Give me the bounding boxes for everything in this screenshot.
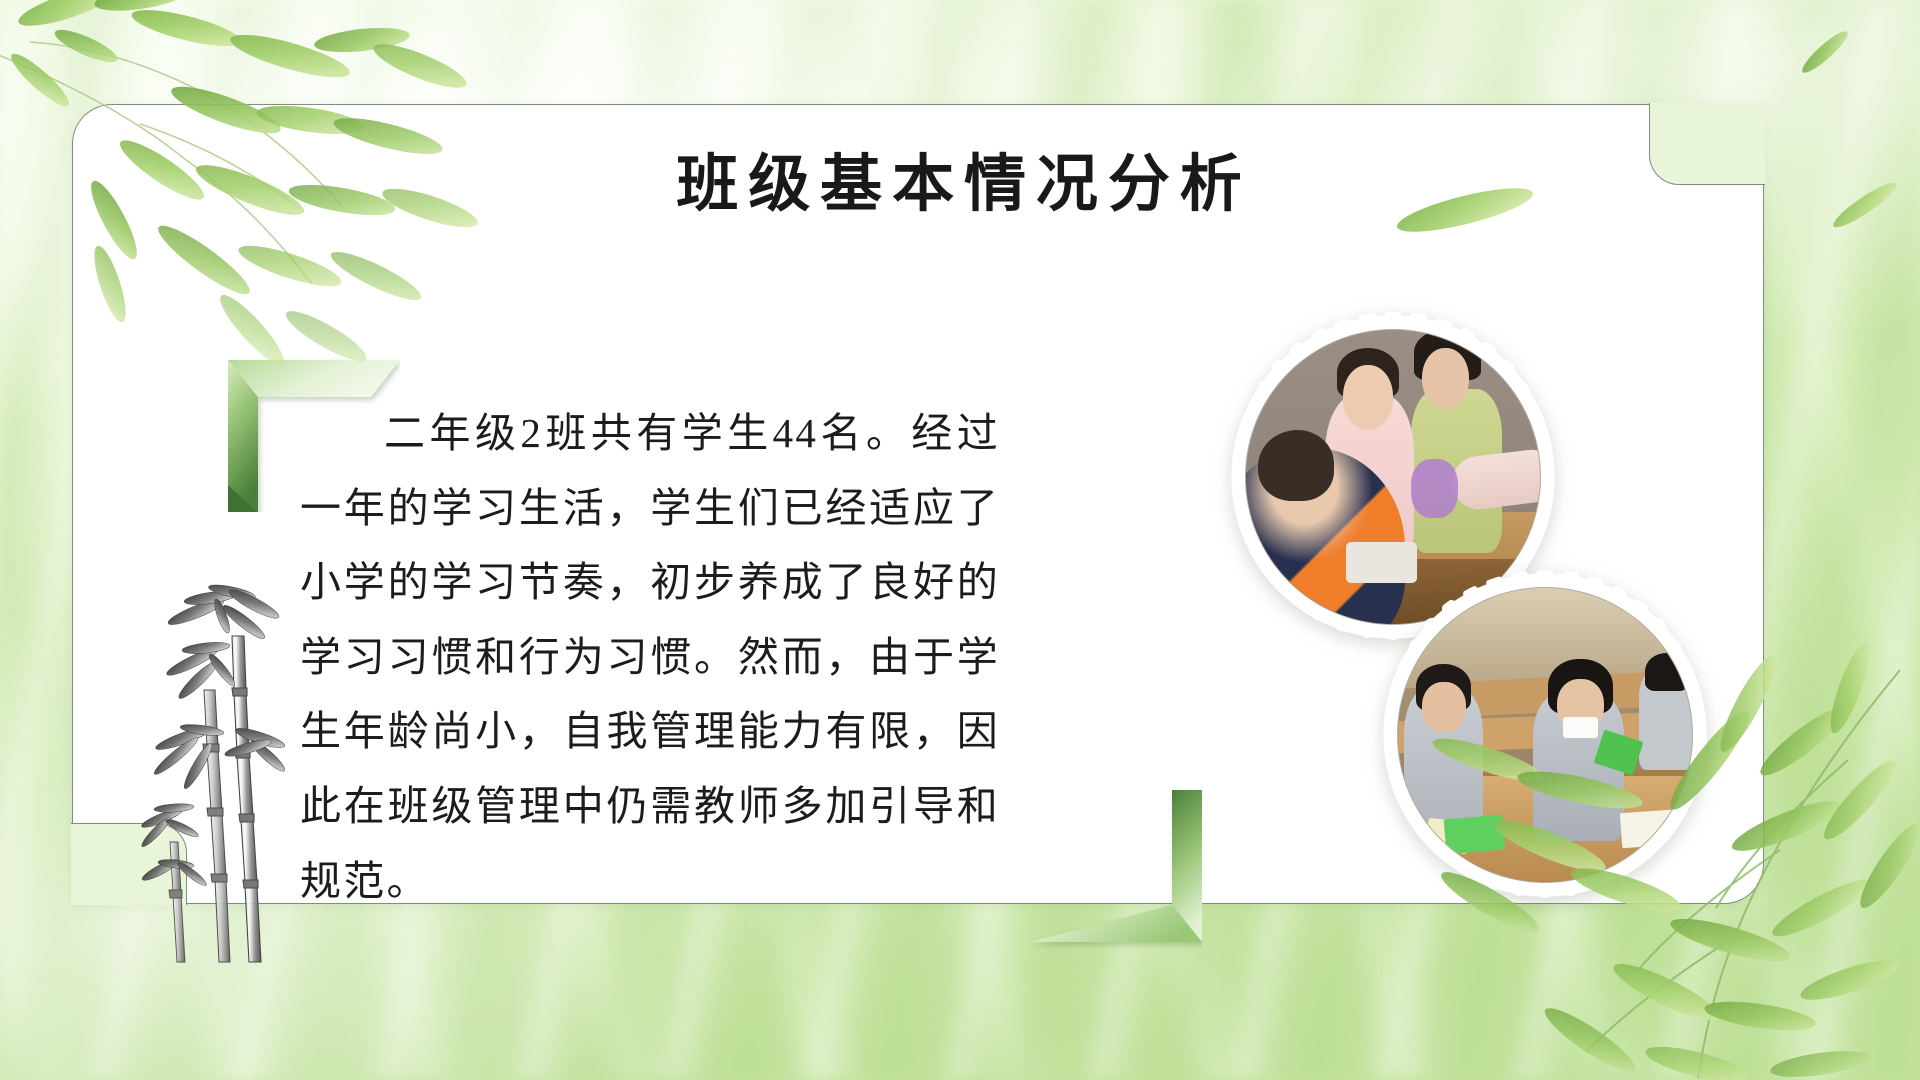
photo-classroom-origami-image (1397, 587, 1693, 883)
body-paragraph: 二年级2班共有学生44名。经过一年的学习生活，学生们已经适应了小学的学习节奏，初… (300, 396, 1000, 918)
card-notch-top-right (1649, 103, 1765, 185)
photo-stamp-classroom-origami[interactable] (1380, 570, 1710, 900)
ink-bamboo-illustration-icon (136, 570, 286, 970)
corner-bracket-top-left-icon (228, 352, 400, 512)
corner-bracket-bottom-right-icon (1030, 790, 1202, 950)
slide-root: 班级基本情况分析 二年级2班共有学生44名。经过一年的学习生活，学生们已经适应了… (0, 0, 1920, 1080)
